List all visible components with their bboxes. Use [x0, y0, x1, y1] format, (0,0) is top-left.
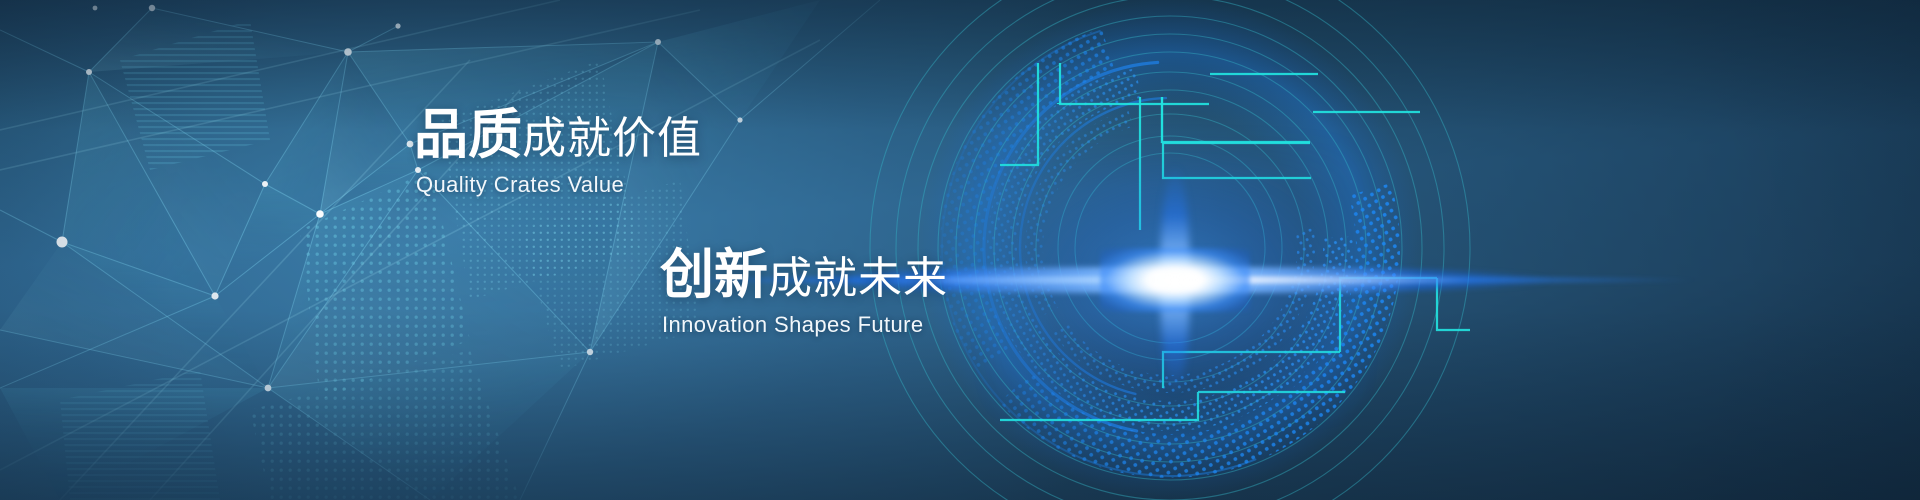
slogan-quality-headline-rest: 成就价值	[522, 114, 702, 163]
slogan-quality: 品质成就价值 Quality Crates Value	[414, 108, 702, 198]
circuit-traces-bottom-right	[1000, 278, 1470, 420]
slogan-innovation: 创新成就未来 Innovation Shapes Future	[660, 248, 948, 338]
slogan-innovation-headline: 创新成就未来	[660, 248, 948, 302]
circuit-traces-top-left-2	[1162, 97, 1420, 178]
tech-banner: 品质成就价值 Quality Crates Value 创新成就未来 Innov…	[0, 0, 1920, 500]
slogan-quality-headline-lead: 品质	[414, 105, 522, 165]
slogan-quality-subline: Quality Crates Value	[416, 172, 702, 198]
slogan-innovation-subline: Innovation Shapes Future	[662, 312, 948, 338]
slogan-innovation-headline-rest: 成就未来	[768, 254, 948, 303]
circuit-traces-layer	[0, 0, 1920, 500]
slogan-quality-headline: 品质成就价值	[414, 108, 702, 162]
slogan-innovation-headline-lead: 创新	[660, 245, 768, 305]
circuit-traces-top-left	[1000, 63, 1318, 230]
